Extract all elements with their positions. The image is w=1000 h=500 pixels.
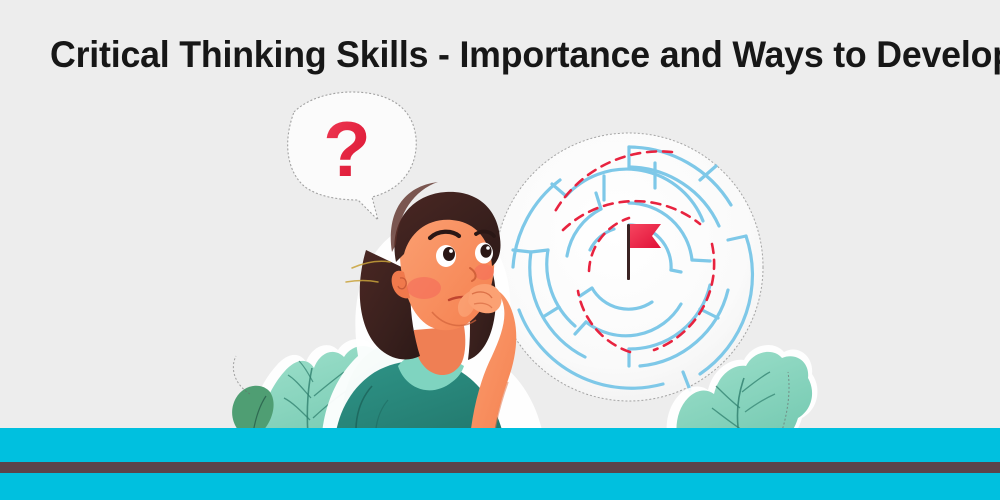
circular-maze	[495, 133, 763, 401]
page-title: Critical Thinking Skills - Importance an…	[50, 32, 938, 78]
cyan-band-lower	[0, 473, 1000, 500]
cyan-band-upper	[0, 428, 1000, 462]
banner-root: ? Critical Thinking Skills - Importance …	[0, 0, 1000, 500]
brown-bar	[0, 462, 1000, 473]
question-mark-glyph: ?	[323, 105, 371, 193]
question-speech-bubble: ?	[288, 92, 417, 220]
